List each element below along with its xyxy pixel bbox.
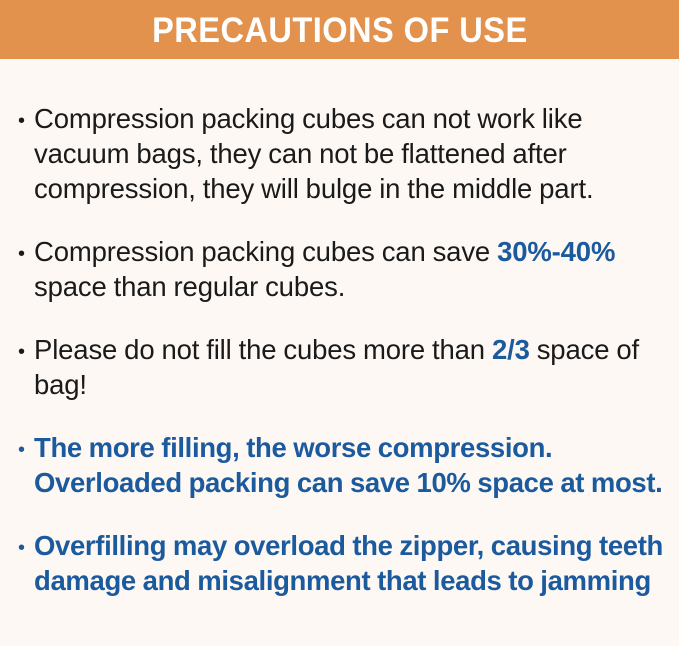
precaution-item: Overfilling may overload the zipper, cau…: [18, 528, 665, 598]
bullet-point-icon: [18, 234, 34, 272]
bullet-point-icon: [18, 430, 34, 468]
text-segment: Compression packing cubes can save: [34, 236, 497, 267]
highlighted-value: 30%-40%: [497, 236, 615, 267]
page-title: PRECAUTIONS OF USE: [152, 13, 528, 48]
text-segment: The more filling, the worse compression.…: [34, 432, 662, 498]
header-banner: PRECAUTIONS OF USE: [0, 0, 679, 59]
precautions-list: Compression packing cubes can not work l…: [0, 59, 679, 598]
highlighted-value: 2/3: [492, 334, 530, 365]
precaution-text: Please do not fill the cubes more than 2…: [34, 332, 665, 402]
text-segment: Please do not fill the cubes more than: [34, 334, 492, 365]
precaution-text: The more filling, the worse compression.…: [34, 430, 665, 500]
precautions-infographic: PRECAUTIONS OF USE Compression packing c…: [0, 0, 679, 646]
bullet-point-icon: [18, 528, 34, 566]
precaution-item: Please do not fill the cubes more than 2…: [18, 332, 665, 402]
text-segment: Overfilling may overload the zipper, cau…: [34, 530, 663, 596]
bullet-point-icon: [18, 101, 34, 139]
precaution-text: Compression packing cubes can save 30%-4…: [34, 234, 665, 304]
precaution-text: Overfilling may overload the zipper, cau…: [34, 528, 665, 598]
precaution-text: Compression packing cubes can not work l…: [34, 101, 665, 206]
precaution-item: Compression packing cubes can not work l…: [18, 101, 665, 206]
precaution-item: The more filling, the worse compression.…: [18, 430, 665, 500]
text-segment: space than regular cubes.: [34, 271, 345, 302]
bullet-point-icon: [18, 332, 34, 370]
precaution-item: Compression packing cubes can save 30%-4…: [18, 234, 665, 304]
text-segment: Compression packing cubes can not work l…: [34, 103, 593, 204]
